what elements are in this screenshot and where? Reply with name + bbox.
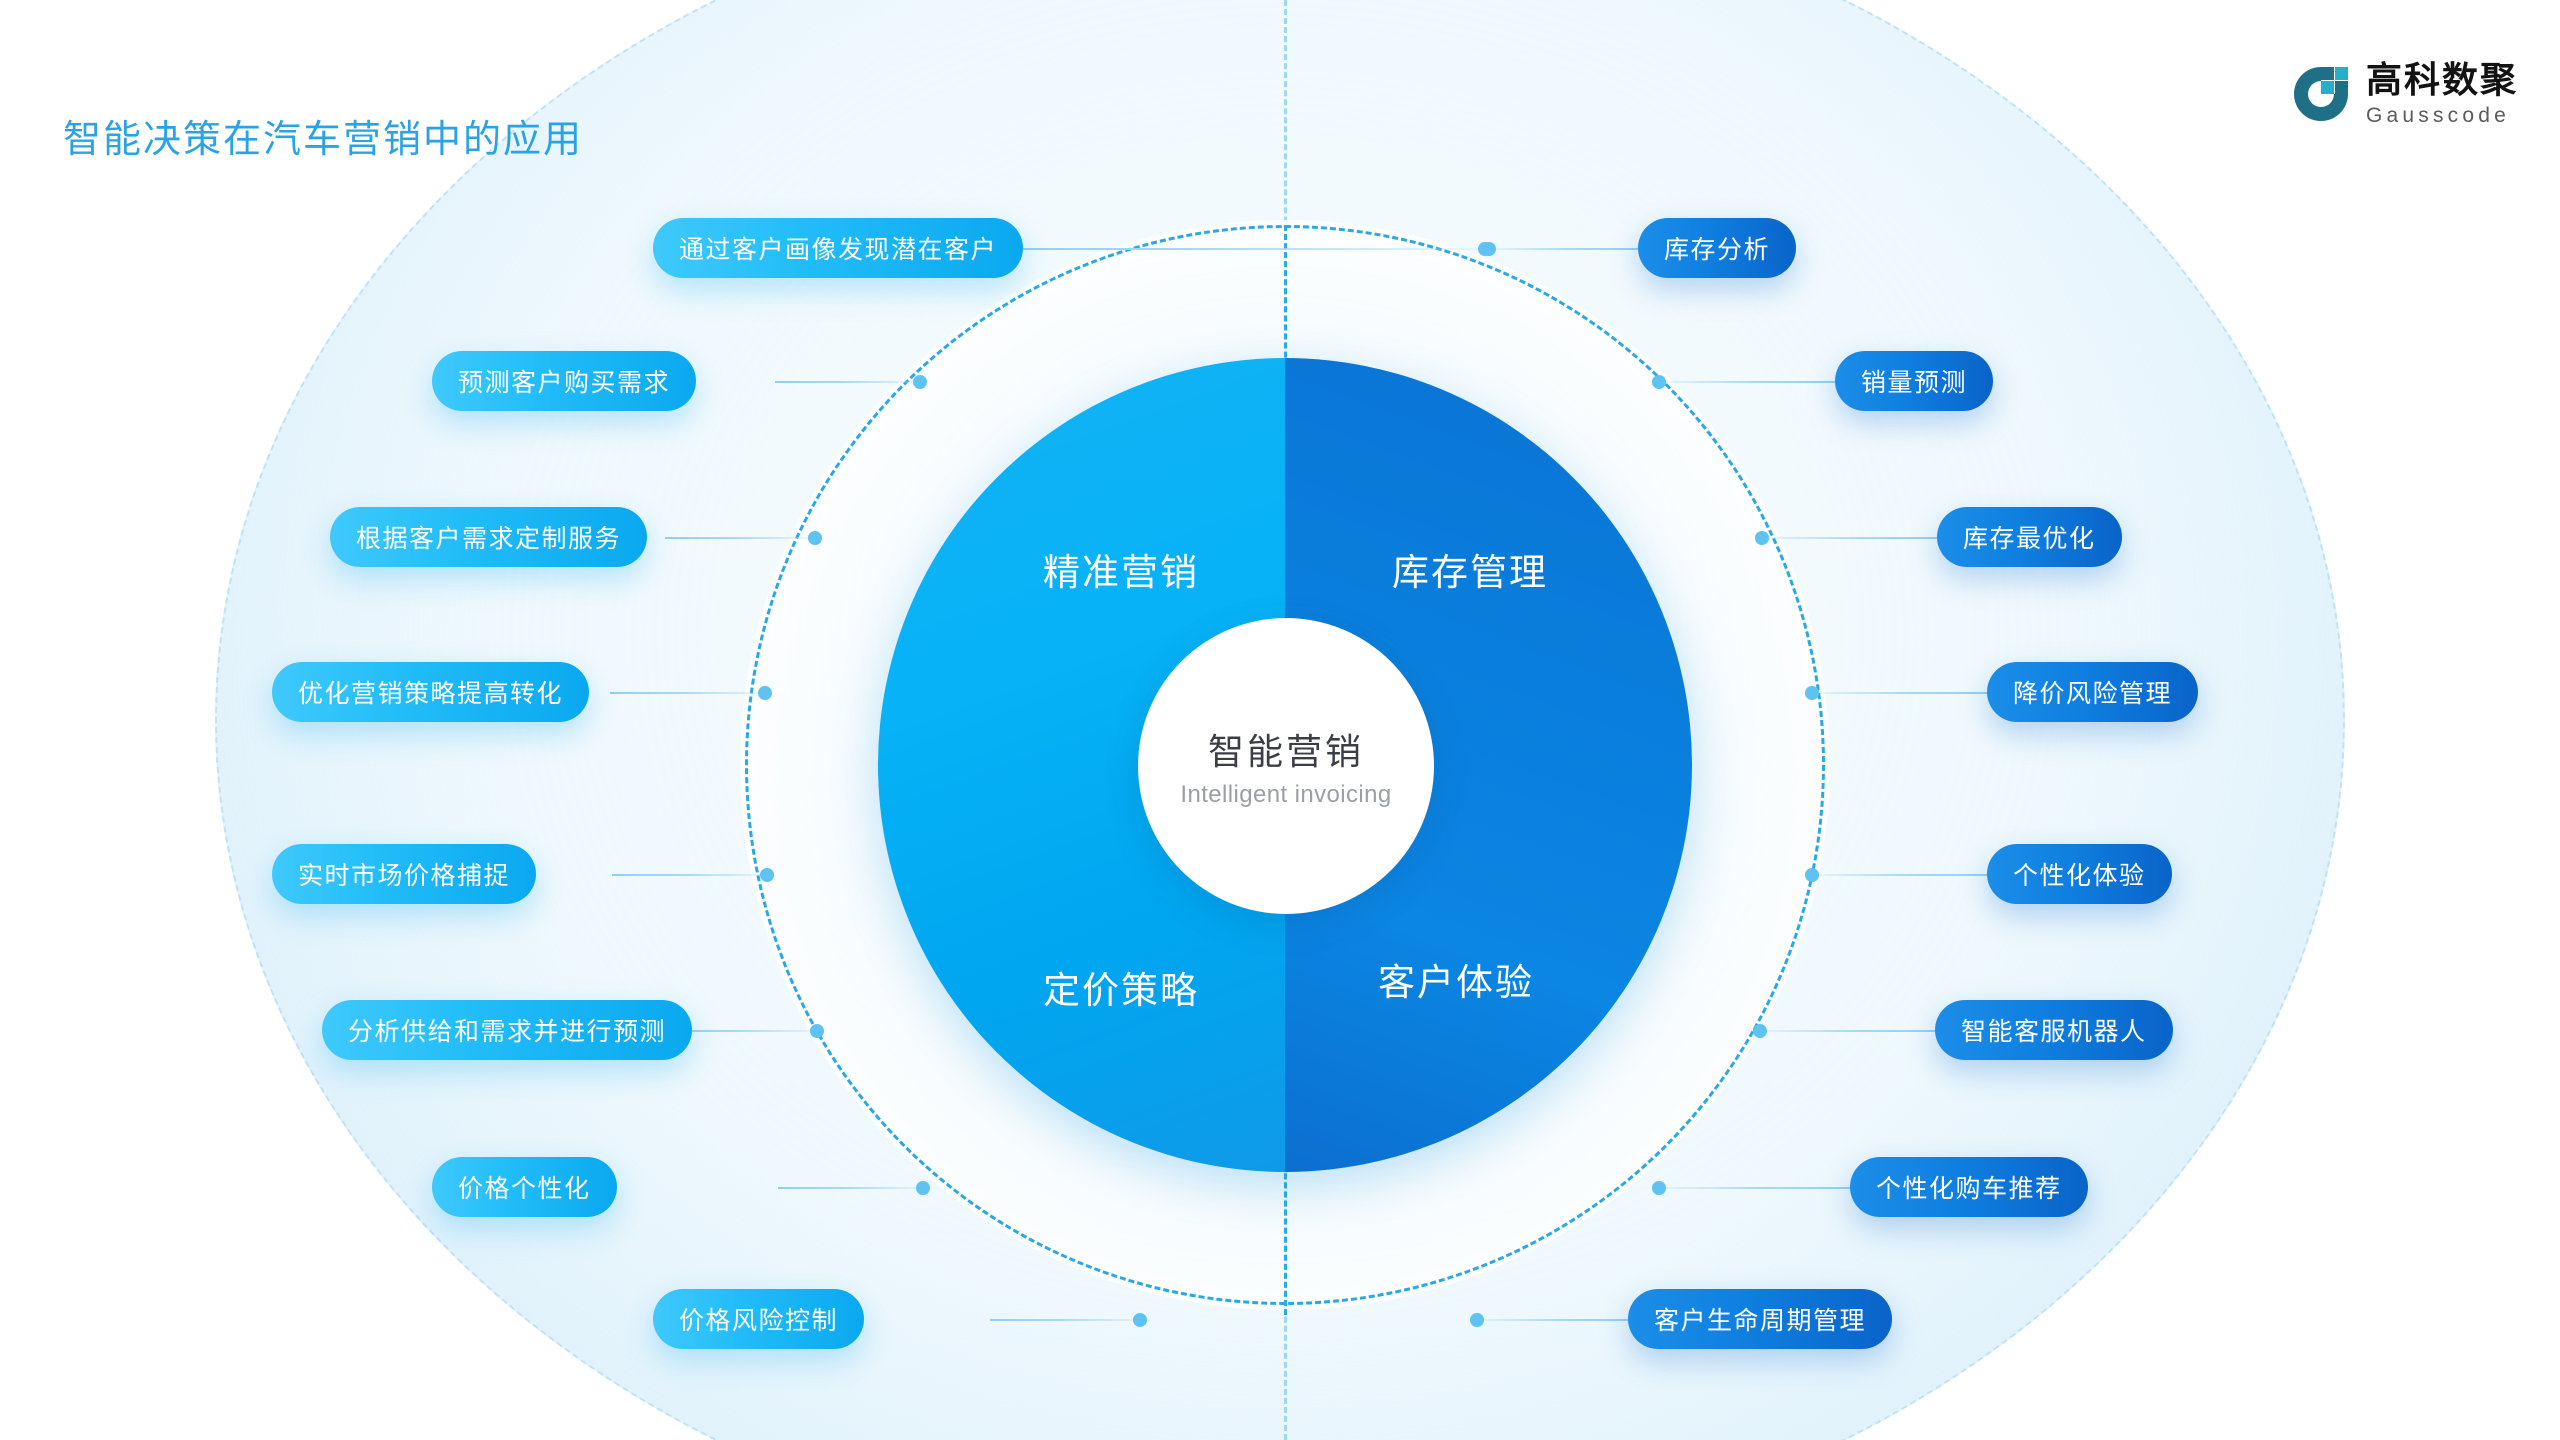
- connector-dot-right-1: [1482, 242, 1496, 256]
- connector-dot-right-4: [1805, 686, 1819, 700]
- right-item-pill-4[interactable]: 降价风险管理: [1987, 662, 2198, 722]
- left-item-pill-4[interactable]: 优化营销策略提高转化: [272, 662, 589, 722]
- left-item-pill-5[interactable]: 实时市场价格捕捉: [272, 844, 536, 904]
- connector-right-5: [1812, 874, 1987, 876]
- left-item-pill-6[interactable]: 分析供给和需求并进行预测: [322, 1000, 692, 1060]
- connector-dot-right-8: [1470, 1313, 1484, 1327]
- connector-right-6: [1760, 1030, 1935, 1032]
- connector-dot-left-5: [760, 868, 774, 882]
- right-item-pill-5[interactable]: 个性化体验: [1987, 844, 2172, 904]
- hub-title-en: Intelligent invoicing: [1180, 781, 1391, 809]
- connector-left-1: [985, 248, 1485, 250]
- left-item-pill-1[interactable]: 通过客户画像发现潜在客户: [653, 218, 1023, 278]
- left-item-label-3: 根据客户需求定制服务: [356, 519, 621, 555]
- connector-left-8: [990, 1319, 1140, 1321]
- left-item-label-4: 优化营销策略提高转化: [298, 674, 563, 710]
- connector-dot-right-7: [1652, 1181, 1666, 1195]
- brand-logo-text: 高科数聚 Gausscode: [2366, 62, 2518, 126]
- right-item-label-7: 个性化购车推荐: [1876, 1169, 2062, 1205]
- left-item-label-6: 分析供给和需求并进行预测: [348, 1012, 666, 1048]
- left-item-pill-3[interactable]: 根据客户需求定制服务: [330, 507, 647, 567]
- connector-left-5: [612, 874, 767, 876]
- right-item-pill-3[interactable]: 库存最优化: [1937, 507, 2122, 567]
- connector-left-7: [778, 1187, 923, 1189]
- connector-right-4: [1812, 692, 1987, 694]
- connector-dot-left-7: [916, 1181, 930, 1195]
- right-item-pill-1[interactable]: 库存分析: [1638, 218, 1796, 278]
- left-item-pill-2[interactable]: 预测客户购买需求: [432, 351, 696, 411]
- right-item-label-8: 客户生命周期管理: [1654, 1301, 1866, 1337]
- hub-center-circle: 智能营销 Intelligent invoicing: [1138, 618, 1434, 914]
- slide-canvas: 智能决策在汽车营销中的应用 高科数聚 Gausscode: [0, 0, 2560, 1440]
- connector-dot-left-3: [808, 531, 822, 545]
- page-title: 智能决策在汽车营销中的应用: [63, 108, 583, 163]
- left-item-label-1: 通过客户画像发现潜在客户: [679, 230, 997, 266]
- left-item-label-7: 价格个性化: [458, 1169, 591, 1205]
- connector-dot-right-5: [1805, 868, 1819, 882]
- connector-right-7: [1660, 1187, 1850, 1189]
- right-item-label-3: 库存最优化: [1963, 519, 2096, 555]
- connector-right-1: [1488, 248, 1638, 250]
- connector-left-4: [610, 692, 765, 694]
- connector-dot-left-6: [810, 1024, 824, 1038]
- right-item-label-6: 智能客服机器人: [1961, 1012, 2147, 1048]
- left-item-label-8: 价格风险控制: [679, 1301, 838, 1337]
- connector-dot-right-6: [1753, 1024, 1767, 1038]
- connector-left-3: [665, 537, 815, 539]
- brand-name-cn: 高科数聚: [2366, 62, 2518, 98]
- right-item-label-1: 库存分析: [1664, 230, 1770, 266]
- brand-name-en: Gausscode: [2366, 105, 2518, 126]
- hub-title-cn: 智能营销: [1208, 723, 1364, 775]
- right-item-label-2: 销量预测: [1861, 363, 1967, 399]
- left-item-label-2: 预测客户购买需求: [458, 363, 670, 399]
- left-item-pill-8[interactable]: 价格风险控制: [653, 1289, 864, 1349]
- quadrant-label-top-right: 库存管理: [1392, 542, 1548, 596]
- connector-right-8: [1478, 1319, 1628, 1321]
- connector-dot-right-3: [1755, 531, 1769, 545]
- connector-right-3: [1762, 537, 1937, 539]
- brand-logo: 高科数聚 Gausscode: [2290, 62, 2518, 126]
- quadrant-label-bottom-right: 客户体验: [1378, 952, 1534, 1006]
- left-item-label-5: 实时市场价格捕捉: [298, 856, 510, 892]
- quadrant-label-top-left: 精准营销: [1043, 542, 1199, 596]
- right-item-label-5: 个性化体验: [2013, 856, 2146, 892]
- right-item-label-4: 降价风险管理: [2013, 674, 2172, 710]
- connector-dot-left-8: [1133, 1313, 1147, 1327]
- right-item-pill-8[interactable]: 客户生命周期管理: [1628, 1289, 1892, 1349]
- connector-dot-left-4: [758, 686, 772, 700]
- left-item-pill-7[interactable]: 价格个性化: [432, 1157, 617, 1217]
- quadrant-label-bottom-left: 定价策略: [1043, 960, 1199, 1014]
- right-item-pill-7[interactable]: 个性化购车推荐: [1850, 1157, 2088, 1217]
- right-item-pill-6[interactable]: 智能客服机器人: [1935, 1000, 2173, 1060]
- right-item-pill-2[interactable]: 销量预测: [1835, 351, 1993, 411]
- gausscode-logo-mark-icon: [2290, 63, 2352, 125]
